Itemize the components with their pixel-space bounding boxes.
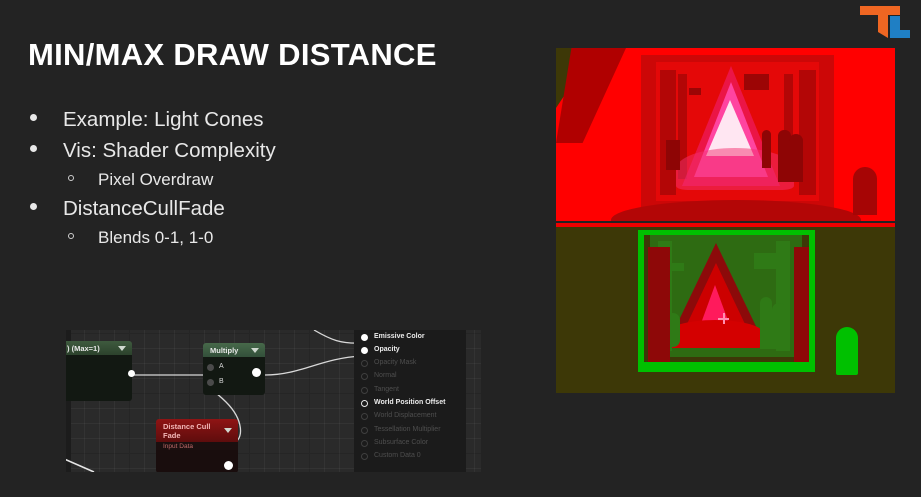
material-editor-graph[interactable]: ) (Max=1) Multiply A B Dis <box>66 330 481 472</box>
normal-label: Normal <box>374 372 397 379</box>
list-item: DistanceCullFade <box>30 197 430 221</box>
multiply-node[interactable]: Multiply A B <box>203 343 265 395</box>
chevron-down-icon[interactable] <box>251 348 259 353</box>
opacity-mask-pin[interactable] <box>361 360 368 367</box>
output-pin-row[interactable]: Custom Data 0 <box>354 450 466 463</box>
subsurface-color-label: Subsurface Color <box>374 439 428 446</box>
bullet-dot-icon <box>30 114 37 121</box>
multiply-input-b-pin[interactable] <box>207 379 214 386</box>
emissive-color-label: Emissive Color <box>374 333 425 340</box>
green-door-shape <box>836 327 858 375</box>
opacity-label: Opacity <box>374 346 400 353</box>
output-pin-row[interactable]: World Displacement <box>354 410 466 423</box>
multiply-input-a-pin[interactable] <box>207 364 214 371</box>
red-door-shape <box>853 167 877 215</box>
output-pin-row[interactable]: Tessellation Multiplier <box>354 423 466 436</box>
clamp-node-title: ) (Max=1) <box>67 344 100 353</box>
multiply-output-pin[interactable] <box>252 368 261 377</box>
distance-cull-fade-header[interactable]: Distance Cull Fade <box>156 419 238 442</box>
multiply-node-body: A B <box>203 357 265 395</box>
output-pin-row[interactable]: Normal <box>354 370 466 383</box>
world-position-offset-pin[interactable] <box>361 400 368 407</box>
subsurface-color-pin[interactable] <box>361 440 368 447</box>
list-item: Pixel Overdraw <box>30 170 430 190</box>
world-position-offset-label: World Position Offset <box>374 399 445 406</box>
output-pin-row[interactable]: World Position Offset <box>354 396 466 409</box>
world-displacement-label: World Displacement <box>374 412 437 419</box>
slide: MIN/MAX DRAW DISTANCE Example: Light Con… <box>0 0 921 497</box>
bullet-dot-icon <box>30 145 37 152</box>
clamp-output-pin[interactable] <box>128 370 135 377</box>
tessellation-multiplier-label: Tessellation Multiplier <box>374 426 441 433</box>
tl-logo <box>858 4 912 40</box>
clamp-node-header[interactable]: ) (Max=1) <box>66 341 132 355</box>
list-item: Vis: Shader Complexity <box>30 139 430 163</box>
bullet-circle-icon <box>68 233 74 239</box>
bullet-circle-icon <box>68 175 74 181</box>
tangent-label: Tangent <box>374 386 399 393</box>
custom-data-0-pin[interactable] <box>361 453 368 460</box>
clamp-node[interactable]: ) (Max=1) <box>66 341 132 401</box>
bullet-dot-icon <box>30 203 37 210</box>
output-pin-row[interactable]: Opacity <box>354 343 466 356</box>
normal-pin[interactable] <box>361 373 368 380</box>
list-item: Example: Light Cones <box>30 108 430 132</box>
list-item-label: Blends 0-1, 1-0 <box>98 228 213 248</box>
list-item-label: DistanceCullFade <box>63 197 225 221</box>
distance-cull-fade-title: Distance Cull Fade <box>163 422 216 440</box>
opacity-mask-label: Opacity Mask <box>374 359 416 366</box>
list-item-label: Vis: Shader Complexity <box>63 139 276 163</box>
distance-cull-fade-node[interactable]: Distance Cull Fade Input Data <box>156 419 238 472</box>
multiply-input-a-label: A <box>219 363 224 370</box>
distance-cull-fade-output-pin[interactable] <box>224 461 233 470</box>
bullet-list: Example: Light Cones Vis: Shader Complex… <box>30 108 430 255</box>
output-pin-row[interactable]: Subsurface Color <box>354 436 466 449</box>
chevron-down-icon[interactable] <box>224 428 232 433</box>
output-pin-row[interactable]: Opacity Mask <box>354 357 466 370</box>
opacity-pin[interactable] <box>361 347 368 354</box>
list-item: Blends 0-1, 1-0 <box>30 228 430 248</box>
output-pin-row[interactable]: Tangent <box>354 383 466 396</box>
clamp-node-body <box>66 355 132 401</box>
world-displacement-pin[interactable] <box>361 413 368 420</box>
multiply-input-b-label: B <box>219 378 224 385</box>
emissive-color-pin[interactable] <box>361 334 368 341</box>
tessellation-multiplier-pin[interactable] <box>361 427 368 434</box>
tangent-pin[interactable] <box>361 387 368 394</box>
custom-data-0-label: Custom Data 0 <box>374 452 421 459</box>
chevron-down-icon[interactable] <box>118 346 126 351</box>
material-output-node[interactable]: Emissive Color Opacity Opacity Mask Norm… <box>354 330 466 472</box>
list-item-label: Example: Light Cones <box>63 108 264 132</box>
page-title: MIN/MAX DRAW DISTANCE <box>28 37 437 73</box>
shader-complexity-green-view <box>556 223 895 393</box>
shader-complexity-red-view <box>556 48 895 221</box>
list-item-label: Pixel Overdraw <box>98 170 213 190</box>
multiply-node-header[interactable]: Multiply <box>203 343 265 357</box>
distance-cull-fade-subtitle: Input Data <box>156 442 238 450</box>
distance-cull-fade-body <box>156 450 238 472</box>
viewport-crosshair-icon <box>718 313 729 324</box>
multiply-node-title: Multiply <box>210 346 238 355</box>
output-pin-row[interactable]: Emissive Color <box>354 330 466 343</box>
